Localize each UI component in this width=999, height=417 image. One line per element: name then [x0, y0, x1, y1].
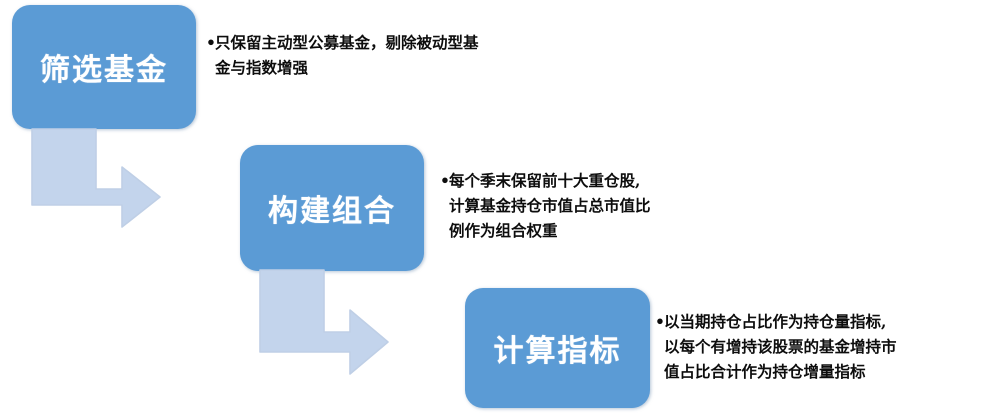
- description-line: 金与指数增强: [215, 55, 479, 80]
- flow-node-label: 筛选基金: [40, 45, 168, 89]
- description-line: 以每个有增持该股票的基金增持市: [664, 334, 897, 359]
- flow-node-build-portfolio[interactable]: 构建组合: [240, 145, 424, 271]
- bent-arrow-shape-icon: [260, 270, 388, 374]
- step-description-1: • 只保留主动型公募基金，剔除被动型基 金与指数增强: [206, 30, 479, 80]
- flow-node-screen-funds[interactable]: 筛选基金: [12, 5, 196, 129]
- connector-arrow-2: [258, 268, 390, 386]
- flow-diagram-canvas: 筛选基金 • 只保留主动型公募基金，剔除被动型基 金与指数增强 构建组合 • 每…: [0, 0, 999, 417]
- flow-node-calculate-indicators[interactable]: 计算指标: [465, 288, 650, 408]
- bullet-dot-icon: •: [206, 30, 215, 55]
- description-line: 只保留主动型公募基金，剔除被动型基: [215, 30, 479, 55]
- bent-arrow-shape-icon: [32, 129, 160, 227]
- connector-arrow-1: [30, 127, 162, 237]
- step-description-3: • 以当期持仓占比作为持仓量指标, 以每个有增持该股票的基金增持市 值占比合计作…: [655, 309, 897, 384]
- description-line: 每个季末保留前十大重仓股,: [449, 168, 651, 193]
- flow-node-label: 计算指标: [494, 326, 622, 370]
- bullet-dot-icon: •: [440, 168, 449, 193]
- description-line: 计算基金持仓市值占总市值比: [449, 193, 651, 218]
- step-description-2: • 每个季末保留前十大重仓股, 计算基金持仓市值占总市值比 例作为组合权重: [440, 168, 651, 243]
- description-line: 以当期持仓占比作为持仓量指标,: [664, 309, 897, 334]
- flow-node-label: 构建组合: [268, 186, 396, 230]
- description-line: 值占比合计作为持仓增量指标: [664, 359, 897, 384]
- description-line: 例作为组合权重: [449, 218, 651, 243]
- bullet-dot-icon: •: [655, 309, 664, 334]
